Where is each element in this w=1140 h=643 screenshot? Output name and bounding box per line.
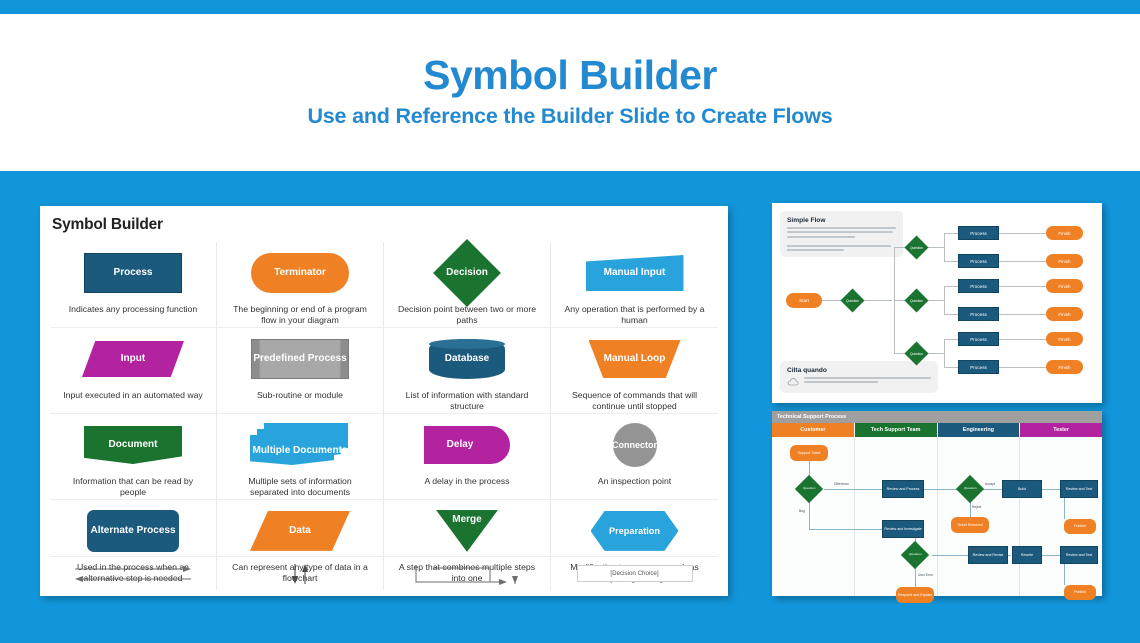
swim-edge-label-not-user-error: Not User Error bbox=[968, 548, 989, 552]
flow-node-question[interactable]: Question bbox=[904, 288, 928, 312]
flow-node-question[interactable]: Question bbox=[904, 235, 928, 259]
symbol-description: Decision point between two or more paths bbox=[396, 304, 538, 327]
simple-flow-title: Simple Flow bbox=[787, 217, 896, 224]
swim-node-respond-and-explain[interactable]: Respond and Explain bbox=[896, 587, 934, 603]
builder-card-title: Symbol Builder bbox=[52, 216, 163, 234]
input-shape-icon: Input bbox=[50, 334, 216, 384]
manual-loop-shape-icon: Manual Loop bbox=[551, 334, 718, 384]
flow-node-process[interactable]: Process bbox=[958, 332, 999, 346]
symbol-cell-database[interactable]: Database List of information with standa… bbox=[384, 328, 551, 414]
swim-node-question-2[interactable]: Question bbox=[956, 475, 984, 503]
slide-canvas: Symbol Builder Use and Reference the Bui… bbox=[0, 0, 1140, 643]
symbol-cell-delay[interactable]: Delay A delay in the process bbox=[384, 414, 551, 500]
simple-flow-note-bottom: Cilta quando bbox=[780, 361, 938, 393]
placeholder-text-lines bbox=[787, 227, 896, 251]
symbol-label: Predefined Process bbox=[252, 340, 348, 378]
connector-row: [Decision Choice] bbox=[50, 556, 718, 590]
swim-node-review-and-test-2[interactable]: Review and Test bbox=[1060, 546, 1098, 564]
symbol-label: Alternate Process bbox=[87, 510, 179, 552]
symbol-label: Input bbox=[82, 341, 184, 377]
merge-shape-icon: Merge bbox=[384, 506, 550, 556]
symbol-grid: Process Indicates any processing functio… bbox=[50, 242, 718, 554]
symbol-cell-manual-input[interactable]: Manual Input Any operation that is perfo… bbox=[551, 242, 718, 328]
alternate-process-shape-icon: Alternate Process bbox=[50, 506, 216, 556]
swim-node-question-3[interactable]: Question bbox=[901, 541, 929, 569]
symbol-description: Any operation that is performed by a hum… bbox=[564, 304, 706, 327]
document-shape-icon: Document bbox=[50, 420, 216, 470]
symbol-description: Indicates any processing function bbox=[69, 304, 197, 315]
swim-node-question-1[interactable]: Question bbox=[795, 475, 823, 503]
symbol-label: Document bbox=[84, 426, 182, 464]
symbol-cell-process[interactable]: Process Indicates any processing functio… bbox=[50, 242, 217, 328]
symbol-cell-terminator[interactable]: Terminator The beginning or end of a pro… bbox=[217, 242, 384, 328]
flow-node-process[interactable]: Process bbox=[958, 307, 999, 321]
symbol-description: An inspection point bbox=[598, 476, 671, 487]
swim-node-rewrite[interactable]: Rewrite bbox=[1012, 546, 1042, 564]
page-title: Symbol Builder bbox=[0, 52, 1140, 99]
elbow-arrow-icon bbox=[412, 562, 522, 586]
swim-node-review-and-process[interactable]: Review and Process bbox=[882, 480, 924, 498]
predefined-process-shape-icon: Predefined Process bbox=[217, 334, 383, 384]
swimlane-title: Technical Support Process bbox=[772, 411, 1102, 423]
swim-edge-label-user-error: User Error bbox=[918, 573, 933, 577]
flow-node-process[interactable]: Process bbox=[958, 279, 999, 293]
symbol-label: Process bbox=[85, 254, 181, 292]
swim-edge-label-bug: Bug bbox=[799, 509, 805, 513]
flow-node-process[interactable]: Process bbox=[958, 226, 999, 240]
flow-node-question[interactable]: Question bbox=[840, 288, 864, 312]
multiple-documents-shape-icon: Multiple Documents bbox=[217, 420, 383, 470]
symbol-cell-decision[interactable]: Decision Decision point between two or m… bbox=[384, 242, 551, 328]
connector-shape-icon: Connector bbox=[551, 420, 718, 470]
simple-flow-card: Simple Flow Cilta quando bbox=[772, 203, 1102, 403]
lane-header-tech-support-team: Tech Support Team bbox=[855, 423, 937, 437]
flow-node-finish[interactable]: Finish bbox=[1046, 360, 1083, 374]
symbol-label: Preparation bbox=[591, 511, 679, 551]
symbol-description: A delay in the process bbox=[425, 476, 510, 487]
symbol-cell-predefined-process[interactable]: Predefined Process Sub-routine or module bbox=[217, 328, 384, 414]
delay-shape-icon: Delay bbox=[384, 420, 550, 470]
connector-elbow[interactable] bbox=[384, 557, 551, 590]
symbol-label: Terminator bbox=[251, 253, 349, 293]
swim-node-ticket-resolved[interactable]: Ticket Resolved bbox=[951, 517, 989, 533]
terminator-shape-icon: Terminator bbox=[217, 248, 383, 298]
swim-node-build[interactable]: Build bbox=[1002, 480, 1042, 498]
flow-node-process[interactable]: Process bbox=[958, 254, 999, 268]
preparation-shape-icon: Preparation bbox=[551, 506, 718, 556]
swim-edge-label-reject: Reject bbox=[972, 505, 981, 509]
page-subtitle: Use and Reference the Builder Slide to C… bbox=[0, 104, 1140, 129]
symbol-label: Merge bbox=[436, 510, 498, 552]
swim-node-support-ticket[interactable]: Support Ticket bbox=[790, 445, 828, 461]
connector-decision-choice[interactable]: [Decision Choice] bbox=[551, 557, 718, 590]
decision-choice-label: [Decision Choice] bbox=[610, 570, 658, 577]
symbol-description: List of information with standard struct… bbox=[396, 390, 538, 413]
simple-flow-footer-title: Cilta quando bbox=[787, 367, 931, 374]
flow-node-question[interactable]: Question bbox=[904, 341, 928, 365]
cloud-icon bbox=[787, 377, 799, 387]
decision-shape-icon: Decision bbox=[384, 248, 550, 298]
swimlane-canvas: Support Ticket Question Review and Proce… bbox=[772, 437, 1102, 596]
double-vertical-arrow-icon bbox=[287, 562, 313, 586]
decision-choice-input[interactable]: [Decision Choice] bbox=[577, 565, 693, 582]
symbol-cell-connector[interactable]: Connector An inspection point bbox=[551, 414, 718, 500]
swim-edge-label-difference: Difference bbox=[834, 482, 849, 486]
double-horizontal-arrow-icon bbox=[73, 563, 193, 585]
flow-node-finish[interactable]: Finish bbox=[1046, 226, 1083, 240]
swim-edge-label-accept: Accept bbox=[985, 482, 995, 486]
swim-node-review-and-test-1[interactable]: Review and Test bbox=[1060, 480, 1098, 498]
symbol-label: Delay bbox=[424, 426, 510, 464]
swimlane-headers: Customer Tech Support Team Engineering T… bbox=[772, 423, 1102, 437]
connector-double-horizontal[interactable] bbox=[50, 557, 217, 590]
symbol-description: Information that can be read by people bbox=[62, 476, 204, 499]
connector-double-vertical[interactable] bbox=[217, 557, 384, 590]
symbol-description: Multiple sets of information separated i… bbox=[229, 476, 371, 499]
symbol-cell-input[interactable]: Input Input executed in an automated way bbox=[50, 328, 217, 414]
symbol-description: Sequence of commands that will continue … bbox=[564, 390, 706, 413]
symbol-description: Sub-routine or module bbox=[257, 390, 343, 401]
swimlane-card: Technical Support Process Customer Tech … bbox=[772, 411, 1102, 596]
symbol-cell-multiple-documents[interactable]: Multiple Documents Multiple sets of info… bbox=[217, 414, 384, 500]
placeholder-text-lines bbox=[804, 377, 931, 383]
lane-header-engineering: Engineering bbox=[938, 423, 1020, 437]
flow-node-finish[interactable]: Finish bbox=[1046, 332, 1083, 346]
symbol-description: Input executed in an automated way bbox=[63, 390, 203, 401]
top-accent-strip bbox=[0, 0, 1140, 14]
flow-node-process[interactable]: Process bbox=[958, 360, 999, 374]
data-shape-icon: Data bbox=[217, 506, 383, 556]
flow-node-finish[interactable]: Finish bbox=[1046, 307, 1083, 321]
simple-flow-note-top: Simple Flow bbox=[780, 211, 903, 257]
lane-header-customer: Customer bbox=[772, 423, 854, 437]
symbol-description: The beginning or end of a program flow i… bbox=[229, 304, 371, 327]
database-shape-icon: Database bbox=[384, 334, 550, 384]
symbol-builder-card: Symbol Builder Process Indicates any pro… bbox=[40, 206, 728, 596]
flow-node-start[interactable]: Start bbox=[786, 293, 822, 308]
process-shape-icon: Process bbox=[50, 248, 216, 298]
symbol-label: Connector bbox=[599, 423, 671, 467]
symbol-label: Data bbox=[250, 511, 350, 551]
swim-node-review-and-investigate[interactable]: Review and Investigate bbox=[882, 520, 924, 538]
lane-header-tester: Tester bbox=[1020, 423, 1102, 437]
manual-input-shape-icon: Manual Input bbox=[551, 248, 718, 298]
symbol-label: Manual Input bbox=[586, 255, 684, 291]
swim-node-publish-2[interactable]: Publish bbox=[1064, 585, 1096, 600]
flow-node-finish[interactable]: Finish bbox=[1046, 254, 1083, 268]
symbol-label: Manual Loop bbox=[589, 340, 681, 378]
swim-node-publish-1[interactable]: Publish bbox=[1064, 519, 1096, 534]
symbol-cell-manual-loop[interactable]: Manual Loop Sequence of commands that wi… bbox=[551, 328, 718, 414]
flow-node-finish[interactable]: Finish bbox=[1046, 279, 1083, 293]
symbol-cell-document[interactable]: Document Information that can be read by… bbox=[50, 414, 217, 500]
